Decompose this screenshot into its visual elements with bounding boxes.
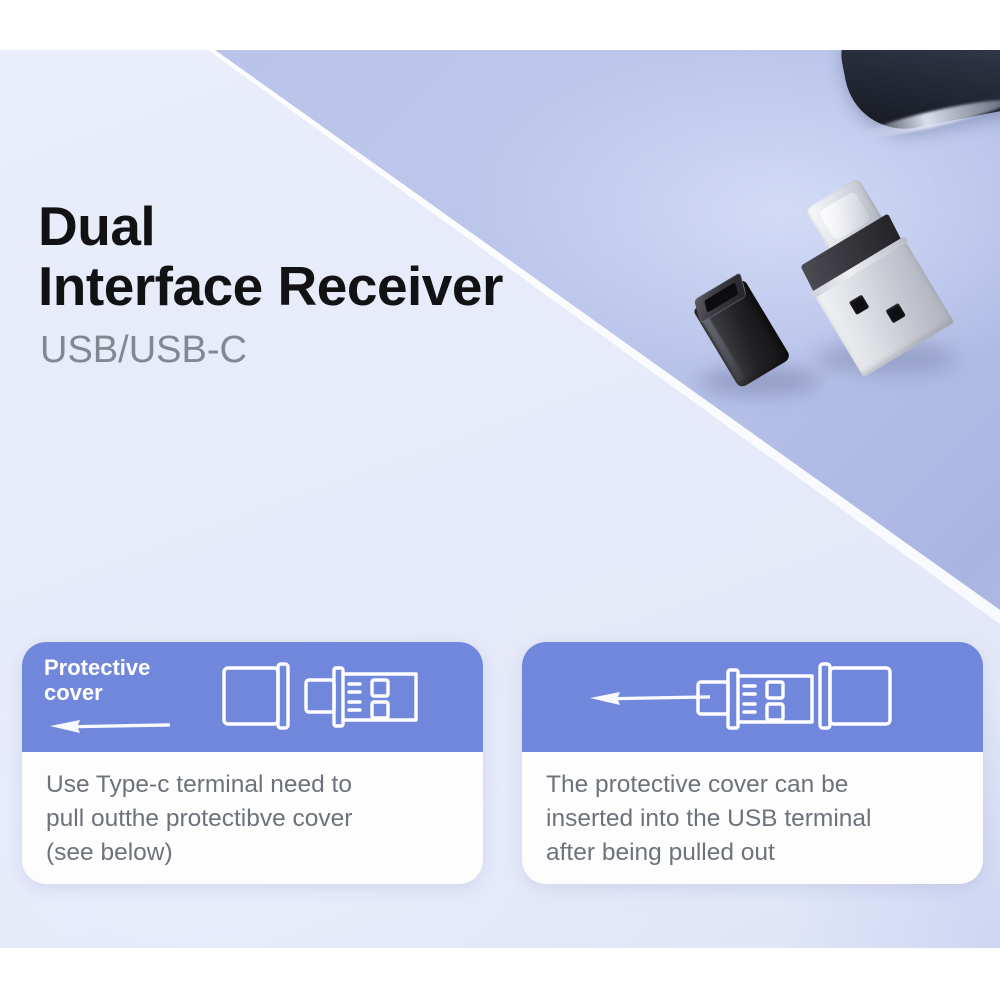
instruction-card-reinsert-cover: The protective cover can be inserted int… bbox=[522, 642, 983, 884]
instruction-card-pull-out-cover: Protective cover bbox=[22, 642, 483, 884]
hero-text-block: Dual Interface Receiver USB/USB-C bbox=[38, 196, 678, 372]
page-title-line-1: Dual bbox=[38, 196, 678, 256]
cover-detached-from-usb-icon bbox=[220, 658, 420, 741]
insert-direction-arrow-icon bbox=[590, 690, 710, 706]
cover-attached-to-usb-icon bbox=[694, 656, 904, 743]
page-subtitle: USB/USB-C bbox=[40, 328, 678, 372]
card-body-line-3: after being pulled out bbox=[546, 836, 961, 870]
product-photo-scene: Dual Interface Receiver USB/USB-C Protec… bbox=[0, 50, 1000, 948]
card-body-pull-out: Use Type-c terminal need to pull outthe … bbox=[22, 752, 483, 870]
product-marketing-image: Dual Interface Receiver USB/USB-C Protec… bbox=[0, 0, 1000, 1000]
top-white-band bbox=[0, 0, 1000, 50]
card-body-line-3: (see below) bbox=[46, 836, 461, 870]
instruction-cards: Protective cover bbox=[0, 642, 1000, 888]
card-body-line-2: inserted into the USB terminal bbox=[546, 802, 961, 836]
card-body-reinsert: The protective cover can be inserted int… bbox=[522, 752, 983, 870]
protective-cover-label: Protective cover bbox=[44, 655, 204, 705]
protective-cover-label-line-2: cover bbox=[44, 680, 103, 705]
usb-notch-one bbox=[849, 294, 870, 315]
page-title-line-2: Interface Receiver bbox=[38, 256, 678, 316]
bottom-white-band bbox=[0, 948, 1000, 1000]
card-body-line-2: pull outthe protectibve cover bbox=[46, 802, 461, 836]
card-body-line-1: Use Type-c terminal need to bbox=[46, 768, 461, 802]
card-header-reinsert bbox=[522, 642, 983, 752]
usb-notch-two bbox=[885, 303, 906, 324]
pull-direction-arrow-icon bbox=[50, 718, 170, 734]
protective-cover-label-line-1: Protective bbox=[44, 655, 150, 680]
card-header-pull-out: Protective cover bbox=[22, 642, 483, 752]
card-body-line-1: The protective cover can be bbox=[546, 768, 961, 802]
